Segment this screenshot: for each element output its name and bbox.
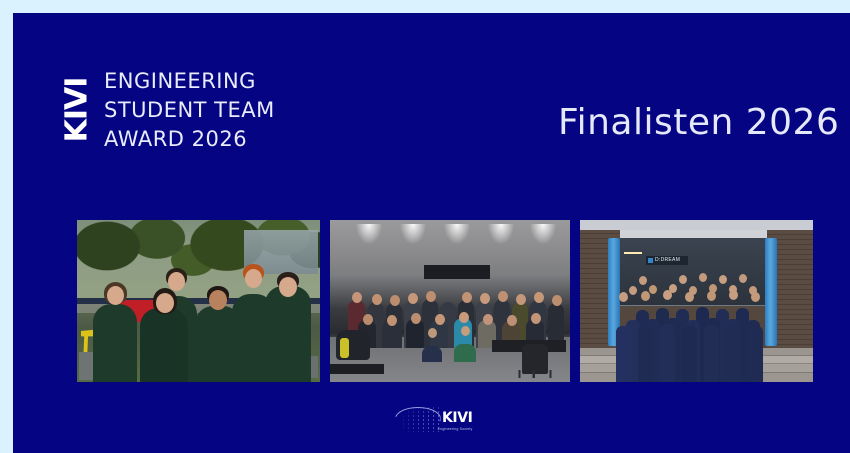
photo-3-head [699, 273, 707, 282]
slide-panel: KIVI ENGINEERING STUDENT TEAM AWARD 2026… [13, 13, 850, 453]
photo-2-head [408, 293, 418, 304]
award-title-block: ENGINEERING STUDENT TEAM AWARD 2026 [104, 63, 275, 157]
photo-strip: D:DREAM [77, 220, 813, 382]
photo-3-head [649, 285, 657, 294]
photo-2-head [480, 293, 490, 304]
photo-3-person [638, 325, 653, 382]
photo-3-person [682, 326, 697, 382]
photo-3-head [679, 275, 687, 284]
kivi-logo-mark-text: KIVI [60, 76, 93, 145]
photo-3-head [663, 290, 672, 300]
photo-team-outdoor-green [77, 220, 320, 382]
photo-2-head [462, 292, 472, 303]
photo-2-head [435, 314, 445, 325]
photo-team-steps-ddream: D:DREAM [580, 220, 813, 382]
photo-1-head [168, 272, 185, 291]
photo-2-chair-base [516, 370, 554, 378]
photo-2-person [454, 344, 476, 362]
kivi-footer-logo: KIVI Engineering Society [13, 405, 850, 439]
photo-3-head [685, 292, 694, 302]
photo-2-head [372, 294, 382, 305]
photo-3-scene: D:DREAM [580, 220, 813, 382]
photo-3-sign-text: D:DREAM [655, 258, 680, 263]
kivi-logo-mark: KIVI [60, 63, 93, 157]
photo-1-person [140, 308, 188, 382]
award-lockup: KIVI ENGINEERING STUDENT TEAM AWARD 2026 [60, 63, 275, 157]
photo-3-head [629, 286, 637, 295]
photo-2-head [483, 314, 493, 325]
photo-3-pillar-right [765, 238, 777, 346]
photo-3-head [729, 290, 738, 300]
photo-2-ceiling-light [356, 224, 382, 244]
photo-2-head [461, 326, 470, 336]
photo-3-ddream-sign: D:DREAM [646, 256, 688, 265]
photo-3-sign-icon [648, 258, 653, 263]
photo-3-head [619, 292, 628, 302]
photo-2-head [426, 291, 436, 302]
photo-1-head [245, 269, 262, 288]
photo-2-head [534, 292, 544, 303]
photo-2-ceiling-light [444, 224, 470, 244]
award-title-line-3: AWARD 2026 [104, 126, 275, 152]
photo-2-head [516, 294, 526, 305]
slide-title: Finalisten 2026 [558, 101, 839, 145]
photo-2-head [459, 312, 469, 323]
photo-2-head [352, 292, 362, 303]
kivi-footer-tagline: Engineering Society [438, 427, 473, 432]
photo-1-scene [77, 220, 320, 382]
photo-2-head [363, 314, 373, 325]
photo-1-head [156, 293, 174, 313]
photo-1-head [279, 277, 297, 297]
photo-2-scene [330, 220, 570, 382]
photo-2-ceiling-light [530, 224, 556, 244]
photo-2-ceiling-light [400, 224, 426, 244]
photo-3-head [639, 276, 647, 285]
photo-2-person [422, 346, 442, 362]
photo-3-head [659, 274, 667, 283]
photo-1-head [209, 290, 227, 310]
photo-3-head [751, 292, 760, 302]
photo-3-person [726, 324, 741, 382]
photo-2-head [444, 294, 454, 305]
kivi-footer-wordmark: KIVI [442, 411, 473, 426]
photo-2-head [390, 295, 400, 306]
photo-2-head [387, 315, 397, 326]
photo-1-head [107, 286, 124, 305]
award-title-line-2: STUDENT TEAM [104, 97, 275, 123]
photo-2-head [498, 291, 508, 302]
photo-1-person [93, 304, 137, 382]
photo-3-head [719, 275, 727, 284]
photo-3-person [704, 325, 719, 382]
photo-1-person [265, 286, 311, 382]
photo-3-lintel [600, 230, 787, 238]
photo-2-head [411, 313, 421, 324]
photo-2-head [428, 328, 437, 338]
photo-2-head [531, 313, 541, 324]
photo-3-head [739, 274, 747, 283]
photo-3-person [660, 324, 675, 382]
photo-3-head [641, 291, 650, 301]
photo-group-indoor-lecture-hall [330, 220, 570, 382]
photo-2-head [552, 295, 562, 306]
photo-2-crowd [338, 270, 564, 348]
award-title-line-1: ENGINEERING [104, 68, 275, 94]
photo-3-light-tube [624, 252, 642, 254]
photo-3-person [616, 326, 631, 382]
kivi-footer-logo-wrap: KIVI Engineering Society [391, 405, 473, 439]
photo-2-ceiling-light [488, 224, 514, 244]
photo-2-table-left [330, 364, 384, 374]
photo-1-person [195, 306, 241, 382]
photo-2-head [507, 315, 517, 326]
photo-2-yellow-bag [340, 338, 349, 358]
photo-3-person [748, 326, 763, 382]
photo-3-head [707, 291, 716, 301]
